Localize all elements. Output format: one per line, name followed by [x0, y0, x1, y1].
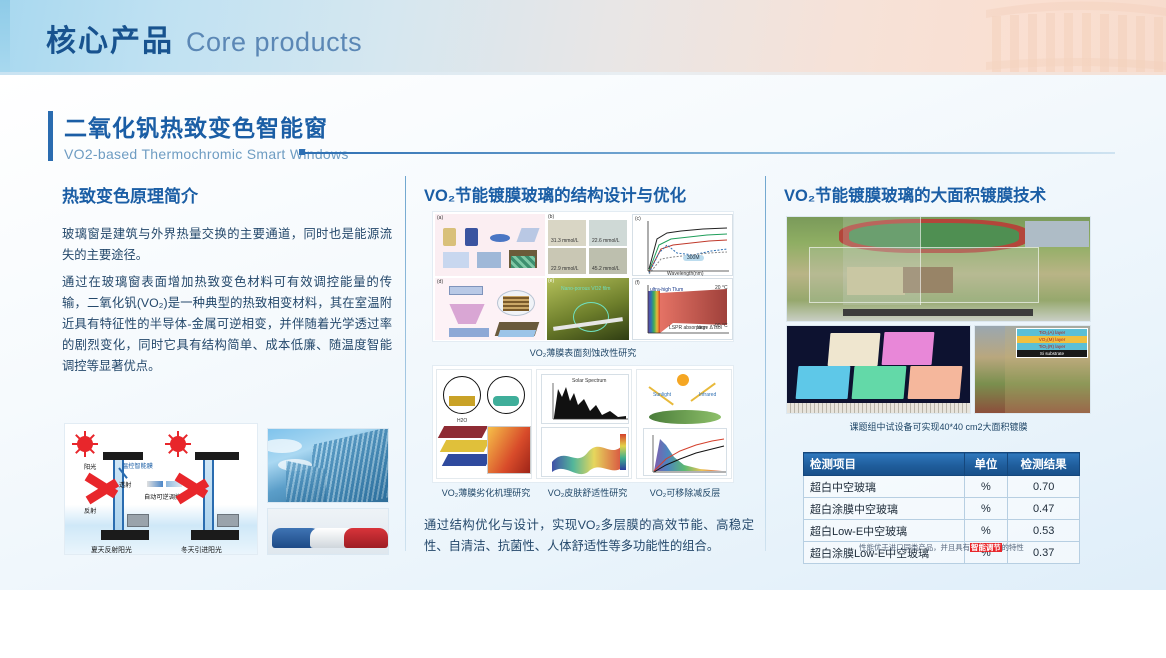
- section-title-cn: 二氧化钒热致变色智能窗: [64, 109, 349, 143]
- label-transmit: 透射: [119, 480, 131, 489]
- figure2-panel-degradation: H2O: [436, 369, 532, 479]
- left-paragraph-2: 通过在玻璃窗表面增加热致变色材料可有效调控能量的传输，二氧化钒(VO₂)是一种典…: [62, 272, 392, 377]
- caption-summer: 夏天反射阳光: [91, 544, 132, 554]
- footnote-prefix: 性能优于进口同类产品，并且具有: [859, 543, 970, 552]
- panel-label-e: (e): [548, 278, 554, 284]
- layer-label-tio2a: TiO₂(A) layer: [1017, 329, 1087, 336]
- layer-label-si-substrate: Si substrate: [1017, 350, 1087, 357]
- figure-2-caption-2: VO₂皮肤舒适性研究: [540, 486, 635, 499]
- panel-f-ultrahigh-label: ultra-high Tlum: [650, 287, 683, 293]
- table-header-unit: 单位: [964, 453, 1008, 476]
- figure-panel-e-photo: (e) Nano-porous VO2 film: [547, 278, 629, 340]
- panel-label-a: (a): [437, 215, 443, 221]
- glass-facade-shape-secondary: [286, 461, 326, 503]
- indoor-appliance-summer: [127, 514, 149, 527]
- header-title-cn: 核心产品: [46, 16, 174, 60]
- window-base-summer: [101, 530, 149, 540]
- sample-peach: [908, 366, 963, 399]
- glass-building-photo: [267, 428, 389, 503]
- coated-glass-overlay-2: [843, 217, 921, 305]
- figure-panel-f-chart: (f) ultra-high Tlum 20 °: [632, 278, 733, 340]
- table-cell-unit: %: [964, 498, 1008, 520]
- section-rule: [305, 152, 1115, 154]
- panel-b-conc-1: 31.3 mmol/L: [551, 238, 579, 244]
- table-row: 超白涂膜中空玻璃 % 0.47: [804, 498, 1080, 520]
- figure2-infrared-label: Infrared: [699, 392, 716, 398]
- sample-cream: [828, 333, 881, 366]
- right-column-heading: VO₂节能镀膜玻璃的大面积镀膜技术: [784, 182, 1046, 206]
- reversible-arrow-left: [147, 481, 163, 487]
- middle-column-heading: VO₂节能镀膜玻璃的结构设计与优化: [424, 182, 686, 206]
- right-image-caption: 课题组中试设备可实现40*40 cm2大面积镀膜: [786, 420, 1091, 433]
- table-cell-result: 0.70: [1008, 476, 1080, 498]
- table-row: 超白Low-E中空玻璃 % 0.53: [804, 520, 1080, 542]
- table-header-item: 检测项目: [804, 453, 965, 476]
- table-cell-unit: %: [964, 520, 1008, 542]
- label-smart-film: 温控智能膜: [122, 461, 153, 470]
- sun-icon-summer: [77, 436, 93, 452]
- left-paragraph-1: 玻璃窗是建筑与外界热量交换的主要通道，同时也是能源流失的主要途径。: [62, 224, 392, 266]
- window-base-winter: [191, 530, 239, 540]
- panel-e-annotation: Nano-porous VO2 film: [561, 286, 610, 292]
- table-cell-item: 超白涂膜中空玻璃: [804, 498, 965, 520]
- layer-structure-legend: TiO₂(A) layer VO₂(M) layer TiO₂(R) layer…: [1016, 328, 1088, 358]
- panel-b-conc-2: 22.6 mmol/L: [592, 238, 620, 244]
- figure-panel-b: (b) 31.3 mmol/L 22.6 mmol/L 22.9 mmol/L …: [547, 214, 629, 276]
- panel-f-dtsol-label: large ΔTsol: [697, 325, 722, 331]
- figure-panel-d: (d): [435, 278, 545, 340]
- figure-multifunction-panels: H2O Solar Spectrum: [432, 365, 734, 483]
- slide-header: 核心产品 Core products: [0, 0, 1166, 75]
- window-frame-top-summer: [103, 452, 143, 460]
- panel-c-xlabel: Wavelength(nm): [667, 271, 704, 277]
- sun-icon-winter: [170, 436, 186, 452]
- figure2-panel-comfort: Solar Spectrum: [536, 369, 632, 479]
- figure2-h2o-label: H2O: [457, 418, 467, 424]
- label-reflect: 反射: [84, 506, 96, 515]
- glass-stand-bar: [843, 309, 1033, 316]
- figure-2-caption-1: VO₂薄膜劣化机理研究: [436, 486, 536, 499]
- table-cell-result: 0.53: [1008, 520, 1080, 542]
- table-cell-item: 超白Low-E中空玻璃: [804, 520, 965, 542]
- caption-winter: 冬天引进阳光: [181, 544, 222, 554]
- label-sunlight-summer: 阳光: [84, 462, 96, 471]
- table-cell-result: 0.47: [1008, 498, 1080, 520]
- panel-b-conc-3: 22.9 mmol/L: [551, 266, 579, 272]
- colonnade-watermark-icon: [986, 0, 1166, 75]
- window-frame-top-winter: [195, 452, 239, 460]
- figure2-solar-spectrum-chart: Solar Spectrum: [541, 374, 629, 424]
- figure-panel-c-chart: (c) 300M Wavelength(nm): [632, 214, 733, 276]
- sample-magenta: [882, 332, 935, 365]
- indoor-appliance-winter: [217, 514, 239, 527]
- footnote-highlight: 智能调节: [970, 543, 1002, 552]
- smart-window-diagram: 阳光 温控智能膜 透射 反射 自动可逆调控 夏天反射阳光 冬天引进阳光: [64, 423, 258, 555]
- column-divider-2: [765, 176, 766, 551]
- table-footnote: 性能优于进口同类产品，并且具有智能调节的特性: [803, 542, 1080, 553]
- table-header-row: 检测项目 单位 检测结果: [804, 453, 1080, 476]
- column-divider-1: [405, 176, 406, 551]
- coated-samples-photo: [786, 325, 971, 414]
- footnote-suffix: 的特性: [1002, 543, 1024, 552]
- panel-label-d: (d): [437, 279, 443, 285]
- panel-b-conc-4: 45.2 mmol/L: [592, 266, 620, 272]
- layer-label-tio2r: TiO₂(R) layer: [1017, 343, 1087, 350]
- figure2-panel-antireflection: Sunlight Infrared: [636, 369, 732, 479]
- left-column-heading: 热致变色原理简介: [62, 182, 198, 207]
- table-cell-unit: %: [964, 476, 1008, 498]
- figure2-3d-surface-chart: [541, 427, 629, 477]
- figure-2-caption-3: VO₂可移除减反层: [639, 486, 731, 499]
- figure-1-caption: VO₂薄膜表面刻蚀改性研究: [432, 346, 734, 359]
- sample-green: [852, 366, 907, 399]
- table-header-result: 检测结果: [1008, 453, 1080, 476]
- slide-root: 核心产品 Core products 二氧化钒热致变色智能窗 VO2-based…: [0, 0, 1166, 658]
- middle-bottom-text: 通过结构优化与设计，实现VO₂多层膜的高效节能、高稳定性、自清洁、抗菌性、人体舒…: [424, 515, 754, 557]
- figure2-sunlight-label: Sunlight: [653, 392, 671, 398]
- panel-f-temp-high: 20 °C: [715, 285, 728, 291]
- layer-label-vo2m: VO₂(M) layer: [1017, 336, 1087, 343]
- car-red-shape: [344, 528, 388, 548]
- header-title-group: 核心产品 Core products: [46, 16, 362, 60]
- header-title-en: Core products: [186, 27, 362, 58]
- ruler-scale: [787, 403, 970, 413]
- slide-footer: 京芯新材料 JINGXIN NANO MATERIALS: [0, 590, 1166, 658]
- figure2-colorbar: [620, 434, 626, 470]
- sample-cyan: [796, 366, 851, 399]
- table-cell-item: 超白中空玻璃: [804, 476, 965, 498]
- section-title-en: VO2-based Thermochromic Smart Windows: [64, 146, 349, 162]
- header-left-accent: [0, 0, 10, 75]
- cloud-shape: [267, 439, 302, 453]
- figure-structure-design: (a) (b) 31.3 mmol/L 22.6 mmol/L 22.9 mmo…: [432, 211, 734, 342]
- section-accent-bar: [48, 111, 53, 161]
- aerial-coating-photo: [786, 216, 1091, 322]
- table-row: 超白中空玻璃 % 0.70: [804, 476, 1080, 498]
- figure-panel-a: (a): [435, 214, 545, 276]
- aerial-building-shape: [1025, 221, 1089, 247]
- figure2-antireflection-chart: [643, 428, 727, 476]
- panel-c-badge: 300M: [683, 255, 704, 261]
- cars-photo: [267, 508, 389, 555]
- layer-structure-photo: TiO₂(A) layer VO₂(M) layer TiO₂(R) layer…: [974, 325, 1091, 414]
